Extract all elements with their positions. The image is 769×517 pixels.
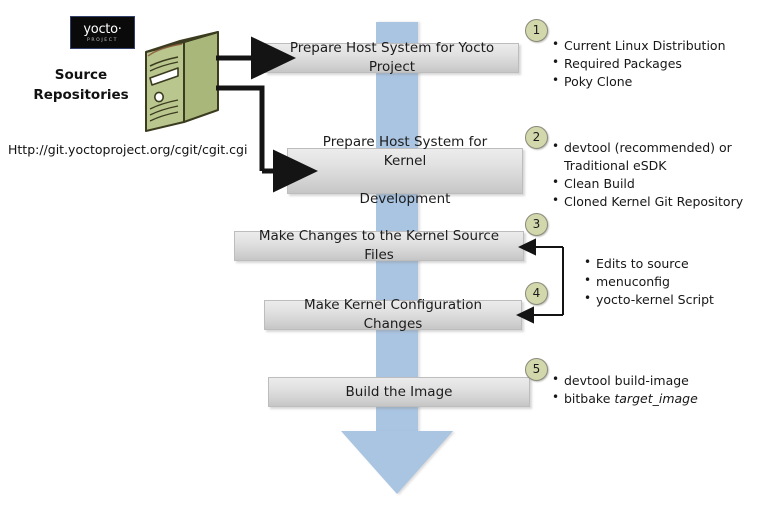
note-text-italic: target_image xyxy=(614,391,697,406)
note-text: devtool (recommended) or xyxy=(564,140,732,155)
list-item: Clean Build xyxy=(551,175,743,192)
list-item: yocto-kernel Script xyxy=(583,291,714,308)
note-text: bitbake xyxy=(564,391,614,406)
process-box-step-1[interactable]: Prepare Host System for Yocto Project xyxy=(265,43,519,73)
step-number-badge-5: 5 xyxy=(525,358,548,381)
note-text: Required Packages xyxy=(564,56,682,71)
connector-server-to-step2-elbow xyxy=(216,88,262,171)
source-repositories-label: Source Repositories xyxy=(22,65,140,105)
step-number-badge-4: 4 xyxy=(525,282,548,305)
process-box-step-2-line2: Development xyxy=(298,190,512,209)
notes-list-step-1: Current Linux Distribution Required Pack… xyxy=(551,37,726,91)
process-box-step-4[interactable]: Make Kernel Configuration Changes xyxy=(264,300,522,330)
notes-list-steps-3-and-4: Edits to source menuconfig yocto-kernel … xyxy=(583,255,714,309)
yocto-project-logo: yocto· PROJECT xyxy=(70,16,135,49)
notes-list-step-5: devtool build-image bitbake target_image xyxy=(551,372,698,408)
server-icon xyxy=(136,30,222,134)
process-box-step-5-label: Build the Image xyxy=(336,383,463,402)
process-box-step-4-label: Make Kernel Configuration Changes xyxy=(265,296,521,334)
yocto-logo-wordmark: yocto· xyxy=(71,22,134,37)
process-box-step-2[interactable]: Prepare Host System for Kernel Developme… xyxy=(287,148,523,194)
note-text: yocto-kernel Script xyxy=(596,292,714,307)
process-box-step-2-label: Prepare Host System for Kernel Developme… xyxy=(288,133,522,209)
source-repositories-url: Http://git.yoctoproject.org/cgit/cgit.cg… xyxy=(8,142,247,157)
note-text: Edits to source xyxy=(596,256,689,271)
process-box-step-2-line1: Prepare Host System for Kernel xyxy=(298,133,512,171)
process-box-step-3[interactable]: Make Changes to the Kernel Source Files xyxy=(234,231,524,261)
note-text: Poky Clone xyxy=(564,74,632,89)
step-number-badge-1: 1 xyxy=(525,19,548,42)
process-box-step-3-label: Make Changes to the Kernel Source Files xyxy=(235,227,523,265)
note-text-continuation: Traditional eSDK xyxy=(564,158,667,173)
list-item: Cloned Kernel Git Repository xyxy=(551,193,743,210)
list-item: Poky Clone xyxy=(551,73,726,90)
yocto-logo-text: yocto xyxy=(83,22,117,37)
source-repositories-line2: Repositories xyxy=(22,85,140,105)
process-box-step-5[interactable]: Build the Image xyxy=(268,377,530,407)
list-item-continuation: Traditional eSDK xyxy=(551,157,743,174)
note-text: menuconfig xyxy=(596,274,670,289)
step-number-badge-3: 3 xyxy=(525,213,548,236)
list-item: Current Linux Distribution xyxy=(551,37,726,54)
list-item: devtool (recommended) or xyxy=(551,139,743,156)
list-item: menuconfig xyxy=(583,273,714,290)
process-box-step-1-label: Prepare Host System for Yocto Project xyxy=(266,39,518,77)
list-item: Required Packages xyxy=(551,55,726,72)
list-item: bitbake target_image xyxy=(551,390,698,407)
note-text: Current Linux Distribution xyxy=(564,38,726,53)
step-number-badge-2: 2 xyxy=(525,126,548,149)
note-text: devtool build-image xyxy=(564,373,689,388)
yocto-logo-dot: · xyxy=(118,22,122,37)
main-flow-arrow-head xyxy=(341,431,453,494)
note-text: Clean Build xyxy=(564,176,635,191)
source-repositories-line1: Source xyxy=(22,65,140,85)
notes-list-step-2: devtool (recommended) or Traditional eSD… xyxy=(551,139,743,211)
list-item: Edits to source xyxy=(583,255,714,272)
list-item: devtool build-image xyxy=(551,372,698,389)
kernel-development-flow-diagram: yocto· PROJECT Source Repositories Http:… xyxy=(0,0,769,517)
note-text: Cloned Kernel Git Repository xyxy=(564,194,743,209)
yocto-logo-subtext: PROJECT xyxy=(71,38,134,43)
